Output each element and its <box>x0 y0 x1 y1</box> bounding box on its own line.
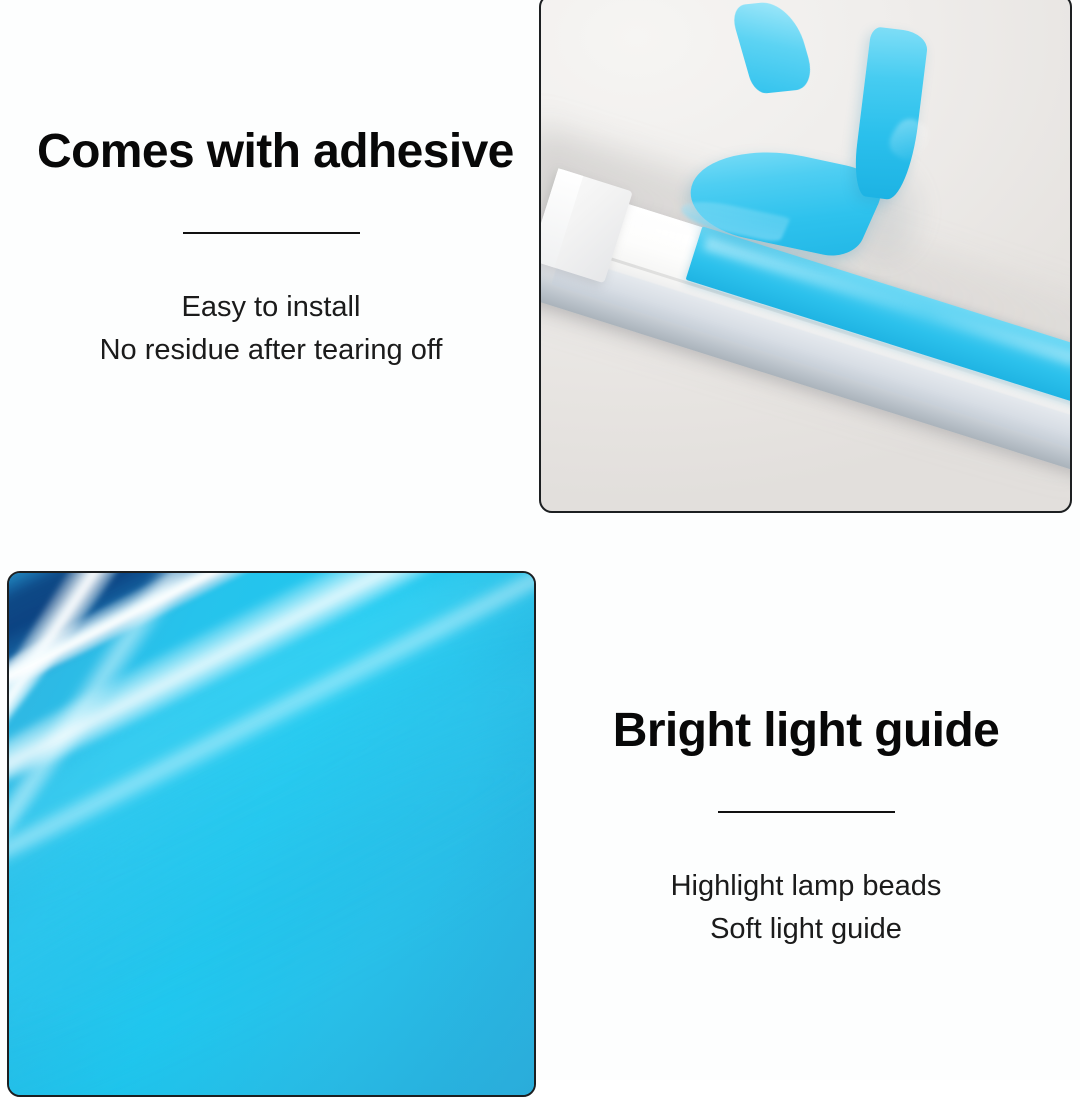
photo-light-scene <box>9 573 534 1095</box>
feature-divider-light-guide <box>718 811 895 813</box>
feature-subtitle-light-guide: Highlight lamp beads Soft light guide <box>572 865 1040 951</box>
feature-subtitle-adhesive: Easy to install No residue after tearing… <box>37 286 505 372</box>
led-vignette <box>9 573 534 1095</box>
feature-subtitle-line: Highlight lamp beads <box>572 865 1040 908</box>
photo-adhesive-scene <box>541 0 1070 511</box>
feature-block-light-guide: Bright light guide Highlight lamp beads … <box>572 707 1040 951</box>
feature-divider-adhesive <box>183 232 360 234</box>
feature-block-adhesive: Comes with adhesive Easy to install No r… <box>37 128 505 372</box>
photo-light-guide <box>7 571 536 1097</box>
feature-subtitle-line: No residue after tearing off <box>37 329 505 372</box>
photo-adhesive-tape <box>539 0 1072 513</box>
adhesive-tape-fold <box>729 0 817 95</box>
feature-subtitle-line: Soft light guide <box>572 908 1040 951</box>
feature-subtitle-line: Easy to install <box>37 286 505 329</box>
feature-heading-light-guide: Bright light guide <box>572 707 1040 755</box>
product-feature-collage: Comes with adhesive Easy to install No r… <box>0 0 1080 1080</box>
feature-heading-adhesive: Comes with adhesive <box>37 128 505 176</box>
